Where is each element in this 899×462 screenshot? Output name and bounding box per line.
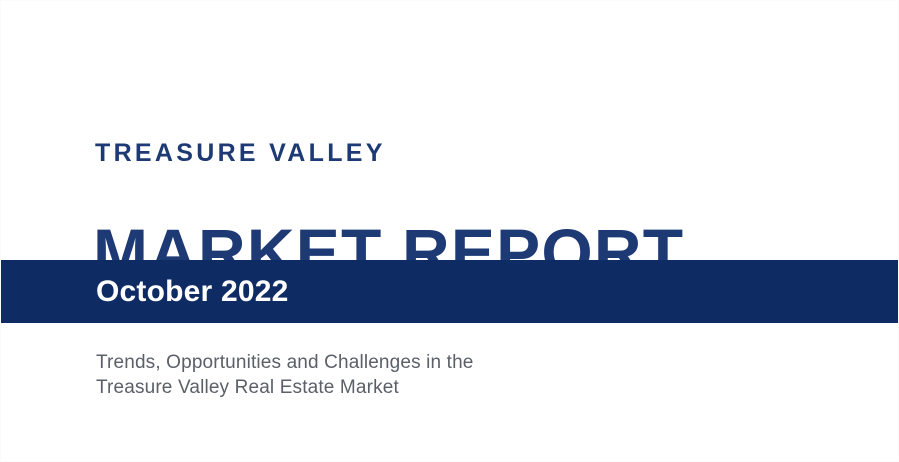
report-eyebrow-title: TREASURE VALLEY xyxy=(95,137,386,169)
report-subtitle: Trends, Opportunities and Challenges in … xyxy=(96,350,474,400)
report-subtitle-line-2: Treasure Valley Real Estate Market xyxy=(96,375,474,400)
date-band: October 2022 xyxy=(1,260,899,323)
report-date-label: October 2022 xyxy=(96,275,289,309)
report-subtitle-line-1: Trends, Opportunities and Challenges in … xyxy=(96,350,474,375)
market-report-cover-page: TREASURE VALLEY MARKET REPORT October 20… xyxy=(0,0,899,462)
